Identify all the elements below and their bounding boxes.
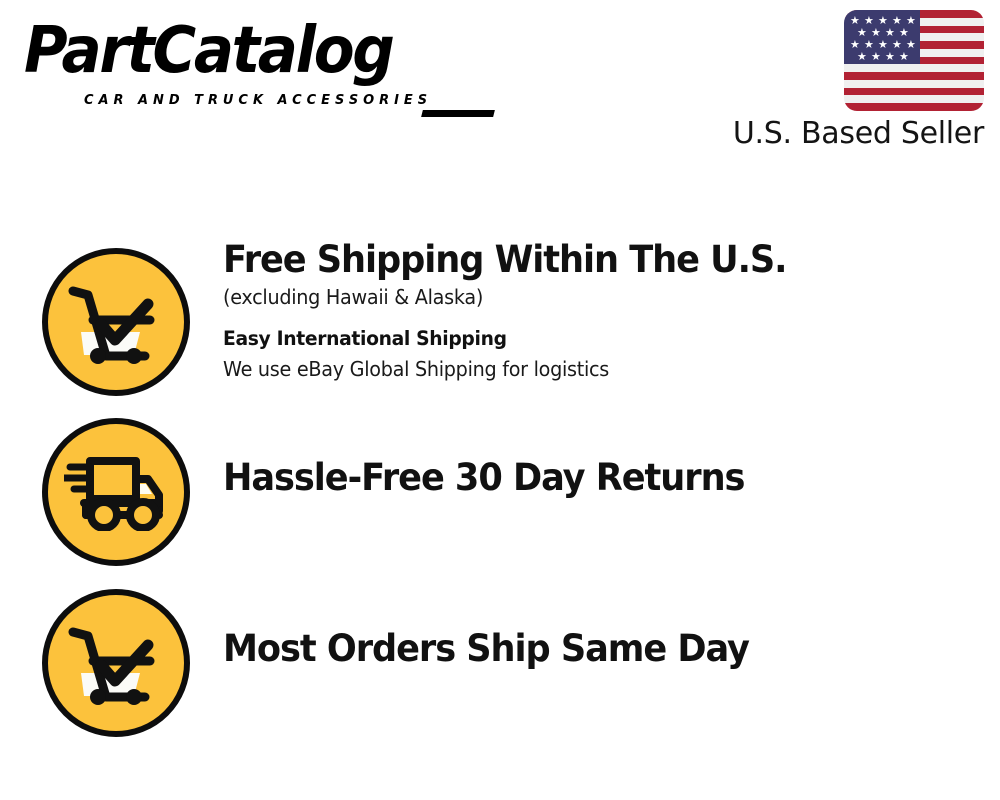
brand-tagline: CAR AND TRUCK ACCESSORIES — [84, 92, 432, 108]
feature-text-block: Most Orders Ship Same Day — [223, 627, 983, 671]
brand-wordmark: PartCatalog — [24, 18, 461, 84]
feature-subtext-strong: Easy International Shipping — [223, 324, 953, 354]
feature-heading: Most Orders Ship Same Day — [223, 627, 945, 671]
banner-header: PartCatalog CAR AND TRUCK ACCESSORIES ★ … — [0, 0, 1000, 175]
feature-subtext: (excluding Hawaii & Alaska) — [223, 282, 953, 312]
feature-row: Hassle-Free 30 Day Returns — [0, 408, 1000, 573]
feature-row: Most Orders Ship Same Day — [0, 579, 1000, 744]
feature-heading: Hassle-Free 30 Day Returns — [223, 456, 945, 500]
feature-heading: Free Shipping Within The U.S. — [223, 238, 945, 282]
feature-text-block: Free Shipping Within The U.S. (excluding… — [223, 238, 983, 384]
brand-logo: PartCatalog CAR AND TRUCK ACCESSORIES — [24, 18, 494, 113]
feature-row: Free Shipping Within The U.S. (excluding… — [0, 238, 1000, 403]
us-flag-canton: ★ ★ ★ ★ ★ ★ ★ ★ ★ ★ ★ ★ ★ ★ ★ ★ ★ ★ — [844, 10, 920, 64]
feature-subtext-secondary: We use eBay Global Shipping for logistic… — [223, 354, 953, 384]
us-based-seller-label: U.S. Based Seller — [704, 116, 984, 152]
feature-text-block: Hassle-Free 30 Day Returns — [223, 456, 983, 500]
us-flag-icon: ★ ★ ★ ★ ★ ★ ★ ★ ★ ★ ★ ★ ★ ★ ★ ★ ★ ★ — [844, 10, 984, 111]
delivery-truck-icon — [42, 418, 190, 566]
shopping-cart-check-icon — [42, 248, 190, 396]
brand-underline-accent — [421, 110, 495, 117]
us-based-seller-badge: ★ ★ ★ ★ ★ ★ ★ ★ ★ ★ ★ ★ ★ ★ ★ ★ ★ ★ U.S.… — [704, 10, 984, 152]
shopping-cart-check-icon — [42, 589, 190, 737]
